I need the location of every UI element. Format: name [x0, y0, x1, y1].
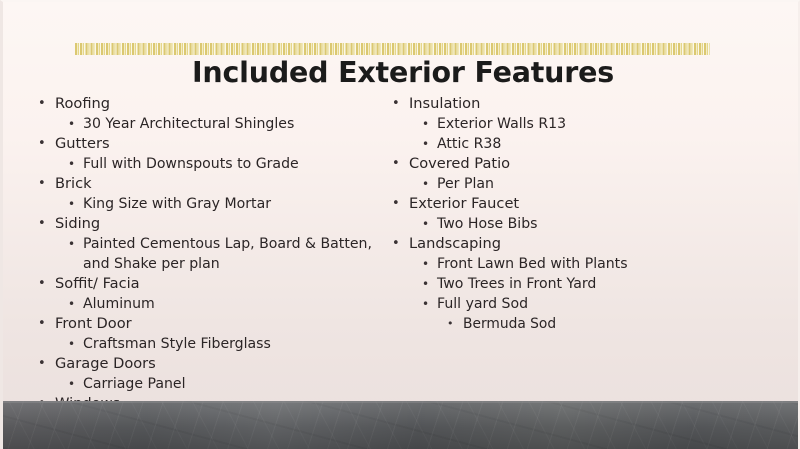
feature-row: •Attic R38 [381, 134, 711, 154]
feature-columns: •Roofing•30 Year Architectural Shingles•… [3, 94, 800, 394]
feature-column-left: •Roofing•30 Year Architectural Shingles•… [27, 94, 387, 449]
feature-list-item: •Roofing [27, 94, 387, 114]
feature-list-item: •Landscaping [381, 234, 711, 254]
feature-label: 30 Year Architectural Shingles [27, 114, 387, 134]
feature-label: Two Hose Bibs [381, 214, 711, 234]
stone-photo-band [3, 401, 800, 449]
feature-list-item: •Aluminum [27, 294, 387, 314]
feature-row: •Garage Doors [27, 354, 387, 374]
feature-column-right: •Insulation•Exterior Walls R13•Attic R38… [381, 94, 711, 334]
feature-label: Carriage Panel [27, 374, 387, 394]
slide-canvas: Included Exterior Features •Roofing•30 Y… [0, 0, 800, 449]
feature-list-item: •Soffit/ Facia [27, 274, 387, 294]
feature-label: Full yard Sod [381, 294, 711, 314]
feature-label: Garage Doors [27, 354, 387, 374]
feature-list-item: •Insulation [381, 94, 711, 114]
feature-row: •Brick [27, 174, 387, 194]
bullet-icon: • [38, 174, 46, 194]
bullet-icon: • [392, 234, 400, 254]
feature-row: •Front Lawn Bed with Plants [381, 254, 711, 274]
bullet-icon: • [38, 314, 46, 334]
feature-list-item: •King Size with Gray Mortar [27, 194, 387, 214]
feature-label: Bermuda Sod [381, 314, 711, 334]
feature-row: •Landscaping [381, 234, 711, 254]
feature-list-item: •Two Trees in Front Yard [381, 274, 711, 294]
feature-list-item: •Gutters [27, 134, 387, 154]
feature-label: Soffit/ Facia [27, 274, 387, 294]
feature-list-item: •Garage Doors [27, 354, 387, 374]
feature-row: •Craftsman Style Fiberglass [27, 334, 387, 354]
bullet-icon: • [68, 374, 75, 394]
feature-label: Craftsman Style Fiberglass [27, 334, 387, 354]
bullet-icon: • [68, 234, 75, 254]
feature-row: •Front Door [27, 314, 387, 334]
feature-list-left: •Roofing•30 Year Architectural Shingles•… [27, 94, 387, 449]
feature-row: •Carriage Panel [27, 374, 387, 394]
feature-row: •Painted Cementous Lap, Board & Batten, … [27, 234, 387, 274]
feature-label: Two Trees in Front Yard [381, 274, 711, 294]
bullet-icon: • [422, 294, 429, 314]
bullet-icon: • [422, 114, 429, 134]
feature-label: Exterior Faucet [381, 194, 711, 214]
bullet-icon: • [392, 94, 400, 114]
feature-label: Attic R38 [381, 134, 711, 154]
feature-list-item: •Full yard Sod [381, 294, 711, 314]
bullet-icon: • [392, 194, 400, 214]
feature-row: •Full yard Sod [381, 294, 711, 314]
decorative-striped-rule [75, 43, 710, 55]
feature-list-item: •Attic R38 [381, 134, 711, 154]
feature-list-item: •Exterior Faucet [381, 194, 711, 214]
feature-label: Exterior Walls R13 [381, 114, 711, 134]
feature-label: Covered Patio [381, 154, 711, 174]
feature-list-item: •Craftsman Style Fiberglass [27, 334, 387, 354]
bullet-icon: • [422, 254, 429, 274]
feature-row: •King Size with Gray Mortar [27, 194, 387, 214]
feature-list-item: •30 Year Architectural Shingles [27, 114, 387, 134]
bullet-icon: • [422, 214, 429, 234]
feature-label: Landscaping [381, 234, 711, 254]
feature-list-item: •Covered Patio [381, 154, 711, 174]
bullet-icon: • [447, 314, 454, 334]
feature-row: •30 Year Architectural Shingles [27, 114, 387, 134]
feature-label: Insulation [381, 94, 711, 114]
feature-label: Front Door [27, 314, 387, 334]
bullet-icon: • [38, 354, 46, 374]
bullet-icon: • [38, 274, 46, 294]
bullet-icon: • [68, 294, 75, 314]
feature-row: •Covered Patio [381, 154, 711, 174]
feature-label: Brick [27, 174, 387, 194]
feature-row: •Siding [27, 214, 387, 234]
feature-list-item: •Per Plan [381, 174, 711, 194]
bullet-icon: • [422, 274, 429, 294]
feature-list-right: •Insulation•Exterior Walls R13•Attic R38… [381, 94, 711, 334]
feature-list-item: •Siding [27, 214, 387, 234]
feature-list-item: •Two Hose Bibs [381, 214, 711, 234]
feature-row: •Two Hose Bibs [381, 214, 711, 234]
feature-label: King Size with Gray Mortar [27, 194, 387, 214]
feature-label: Roofing [27, 94, 387, 114]
feature-list-item: •Bermuda Sod [381, 314, 711, 334]
feature-label: Gutters [27, 134, 387, 154]
feature-row: •Roofing [27, 94, 387, 114]
photo-band-top-edge [3, 401, 800, 403]
feature-list-item: •Painted Cementous Lap, Board & Batten, … [27, 234, 387, 274]
feature-label: Painted Cementous Lap, Board & Batten, a… [27, 234, 387, 274]
feature-list-item: •Front Lawn Bed with Plants [381, 254, 711, 274]
bullet-icon: • [68, 334, 75, 354]
feature-row: •Exterior Walls R13 [381, 114, 711, 134]
feature-row: •Exterior Faucet [381, 194, 711, 214]
bullet-icon: • [422, 174, 429, 194]
bullet-icon: • [68, 194, 75, 214]
feature-label: Front Lawn Bed with Plants [381, 254, 711, 274]
feature-row: •Insulation [381, 94, 711, 114]
bullet-icon: • [68, 154, 75, 174]
bullet-icon: • [68, 114, 75, 134]
feature-row: •Per Plan [381, 174, 711, 194]
feature-list-item: •Brick [27, 174, 387, 194]
slide-title: Included Exterior Features [3, 56, 800, 89]
feature-list-item: •Front Door [27, 314, 387, 334]
feature-row: •Full with Downspouts to Grade [27, 154, 387, 174]
feature-list-item: •Carriage Panel [27, 374, 387, 394]
feature-label: Aluminum [27, 294, 387, 314]
feature-row: •Two Trees in Front Yard [381, 274, 711, 294]
feature-row: •Aluminum [27, 294, 387, 314]
bullet-icon: • [38, 94, 46, 114]
bullet-icon: • [38, 134, 46, 154]
feature-label: Full with Downspouts to Grade [27, 154, 387, 174]
feature-label: Siding [27, 214, 387, 234]
bullet-icon: • [392, 154, 400, 174]
feature-list-item: •Full with Downspouts to Grade [27, 154, 387, 174]
feature-row: •Soffit/ Facia [27, 274, 387, 294]
feature-list-item: •Exterior Walls R13 [381, 114, 711, 134]
bullet-icon: • [422, 134, 429, 154]
feature-row: •Gutters [27, 134, 387, 154]
feature-row: •Bermuda Sod [381, 314, 711, 334]
bullet-icon: • [38, 214, 46, 234]
feature-label: Per Plan [381, 174, 711, 194]
